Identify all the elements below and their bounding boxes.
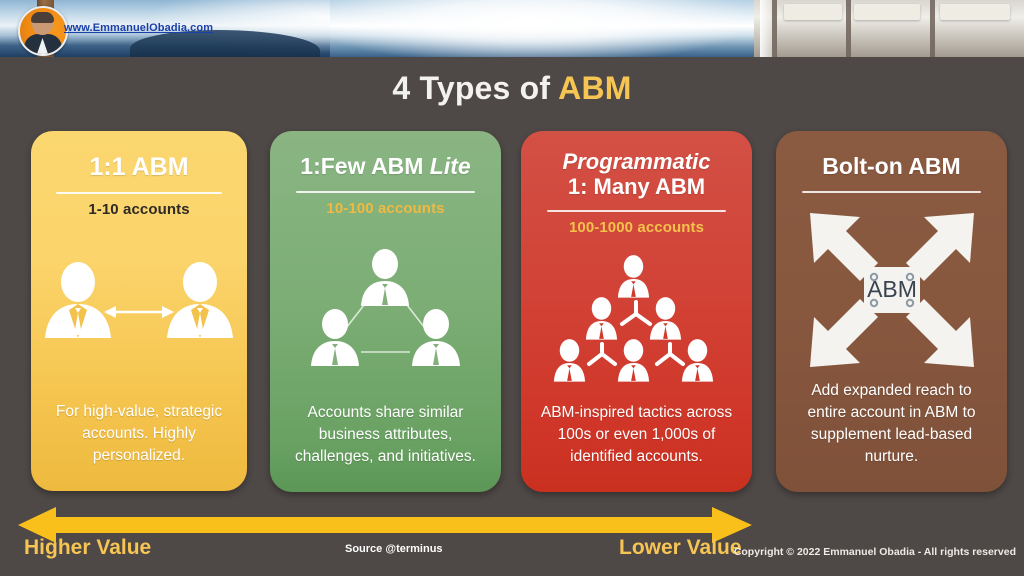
source-label: Source @terminus xyxy=(345,543,443,555)
card-title-italic: Programmatic xyxy=(563,150,711,175)
people-pyramid-hierarchy-icon xyxy=(539,252,734,387)
card-illustration: ABM xyxy=(788,200,995,380)
card-accounts-range: 1-10 accounts xyxy=(88,201,189,218)
card-illustration xyxy=(533,236,740,402)
card-title: Bolt-on ABM xyxy=(822,154,960,180)
two-people-bidirectional-arrow-icon xyxy=(44,250,234,370)
card-divider xyxy=(547,210,725,212)
lower-value-label: Lower Value xyxy=(619,536,742,560)
value-labels-row: Higher Value Source @terminus Lower Valu… xyxy=(0,536,1024,576)
card-one-to-few-abm-lite[interactable]: 1:Few ABM Lite 10-100 accounts xyxy=(270,131,501,492)
card-accounts-range: 10-100 accounts xyxy=(326,200,444,217)
abm-four-arrows-expand-icon: ABM xyxy=(802,205,982,375)
site-url-link[interactable]: www.EmmanuelObadia.com xyxy=(64,22,213,34)
higher-value-label: Higher Value xyxy=(24,536,151,560)
abm-icon-label: ABM xyxy=(867,276,917,302)
card-description: For high-value, strategic accounts. High… xyxy=(43,401,235,481)
three-people-triangle-network-icon xyxy=(293,244,478,374)
cards-row: 1:1 ABM 1-10 accounts xyxy=(0,131,1024,495)
card-title-text: 1: Many ABM xyxy=(563,175,711,200)
card-illustration xyxy=(43,218,235,401)
page-title-highlight: ABM xyxy=(558,70,631,106)
terrace-post-1 xyxy=(772,0,777,57)
card-accounts-range: 100-1000 accounts xyxy=(569,219,704,236)
card-description: ABM-inspired tactics across 100s or even… xyxy=(533,402,740,482)
copyright-label: Copyright © 2022 Emmanuel Obadia - All r… xyxy=(734,546,1016,558)
card-bolt-on-abm[interactable]: Bolt-on ABM xyxy=(776,131,1007,492)
card-title-text: 1:1 ABM xyxy=(89,153,188,181)
avatar-hair xyxy=(31,12,54,23)
card-title-italic: Lite xyxy=(430,153,471,179)
card-title: 1:Few ABM Lite xyxy=(300,154,470,180)
awning-3 xyxy=(940,4,1010,20)
avatar xyxy=(18,6,68,56)
card-divider xyxy=(56,192,221,194)
card-one-to-one-abm[interactable]: 1:1 ABM 1-10 accounts xyxy=(31,131,247,491)
awning-2 xyxy=(854,4,920,20)
page-title: 4 Types of ABM xyxy=(0,70,1024,107)
card-programmatic-one-to-many-abm[interactable]: Programmatic1: Many ABM 100-1000 account… xyxy=(521,131,752,492)
card-description: Add expanded reach to entire account in … xyxy=(788,380,995,482)
page-title-main: 4 Types of xyxy=(392,70,558,106)
card-divider xyxy=(802,191,980,193)
card-title: Programmatic1: Many ABM xyxy=(563,150,711,199)
terrace-post-2 xyxy=(846,0,851,57)
card-illustration xyxy=(282,217,489,402)
card-title: 1:1 ABM xyxy=(89,153,188,181)
card-description: Accounts share similar business attribut… xyxy=(282,402,489,482)
card-title-text: Bolt-on ABM xyxy=(822,153,960,179)
slide-root: www.EmmanuelObadia.com 4 Types of ABM 1:… xyxy=(0,0,1024,576)
terrace-region xyxy=(754,0,1024,57)
header-banner-image: www.EmmanuelObadia.com xyxy=(0,0,1024,57)
card-divider xyxy=(296,191,474,193)
awning-1 xyxy=(784,4,842,20)
terrace-post-3 xyxy=(930,0,935,57)
card-title-text: 1:Few ABM xyxy=(300,153,430,179)
